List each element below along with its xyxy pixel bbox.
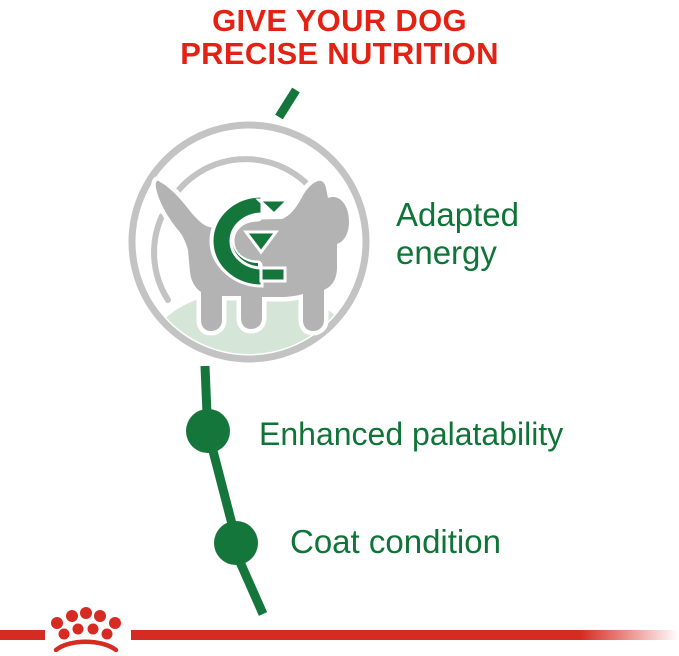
connector-segment-top [279, 90, 296, 117]
inner-arc-lower-icon [154, 216, 168, 300]
feature-label-enhanced-palatability: Enhanced palatability [259, 415, 563, 453]
feature-marker-dot-palatability [186, 409, 230, 453]
footer-rule-left [0, 630, 45, 640]
poster-root: GIVE YOUR DOG PRECISE NUTRITION [0, 0, 679, 656]
footer-rule-right [131, 630, 679, 640]
feature-marker-dot-coat [214, 521, 258, 565]
feature-label-coat-condition: Coat condition [290, 523, 501, 561]
royal-canin-crown-icon [47, 606, 125, 652]
connector-segment-3 [240, 562, 263, 614]
energy-arrow-tail [261, 268, 285, 281]
feature-label-adapted-energy-line2: energy [396, 234, 497, 271]
connector-segment-1 [205, 366, 207, 414]
feature-label-adapted-energy-line1: Adapted [396, 196, 519, 233]
connector-segment-2 [212, 447, 232, 524]
feature-label-adapted-energy: Adapted energy [396, 196, 596, 272]
